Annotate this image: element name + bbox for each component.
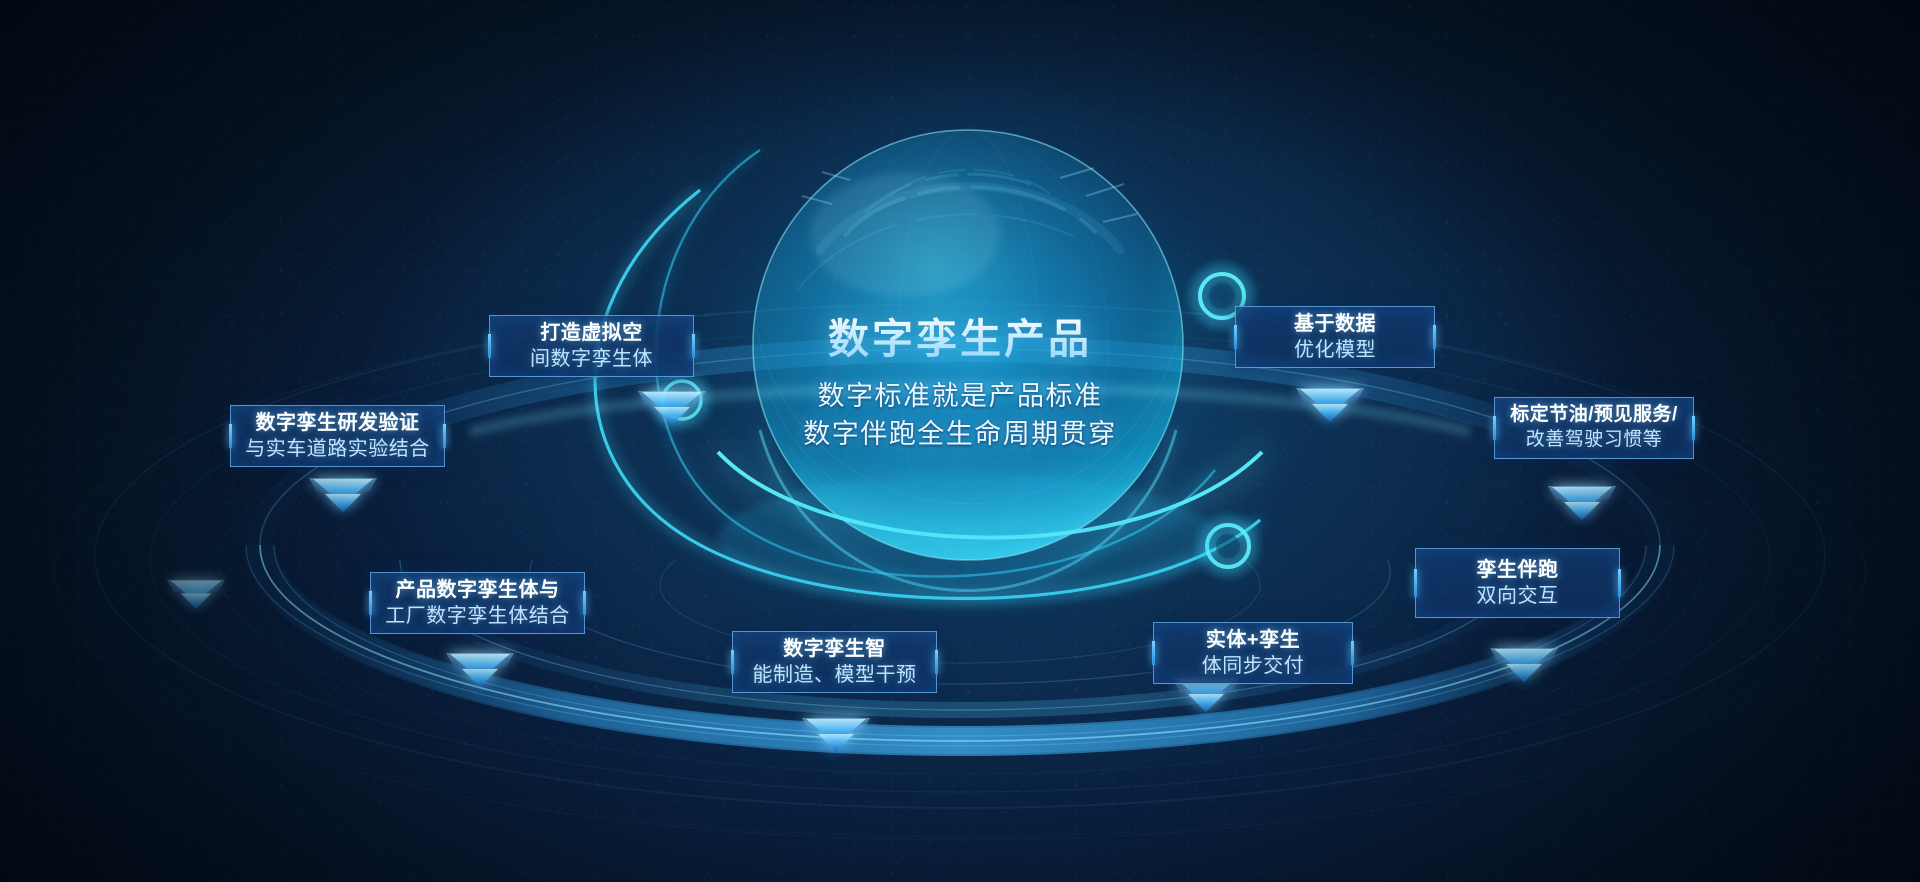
infographic-stage: 数字孪生产品 数字标准就是产品标准 数字伴跑全生命周期贯穿 打造虚拟空 间数字孪… (0, 0, 1920, 882)
orbit-node-icon (652, 370, 712, 430)
label-rnd-validation[interactable]: 数字孪生研发验证 与实车道路实验结合 (230, 405, 445, 467)
label-line-2: 间数字孪生体 (530, 346, 653, 372)
orbit-ring-4 (470, 387, 1470, 432)
label-line-2: 优化模型 (1294, 337, 1376, 363)
label-product-factory-twin[interactable]: 产品数字孪生体与 工厂数字孪生体结合 (370, 572, 585, 634)
accent-bar-right (443, 424, 446, 448)
label-build-virtual-space[interactable]: 打造虚拟空 间数字孪生体 (489, 315, 694, 377)
chevron-down-icon (309, 478, 377, 512)
chevron-down-icon (1296, 388, 1364, 422)
label-line-1: 基于数据 (1294, 311, 1376, 337)
label-twin-companion[interactable]: 孪生伴跑 双向交互 (1415, 548, 1620, 618)
chevron-down-icon (638, 391, 706, 425)
accent-bar-left (731, 650, 734, 674)
chevron-down-icon (802, 718, 870, 752)
label-line-1: 打造虚拟空 (540, 320, 643, 346)
label-line-1: 孪生伴跑 (1477, 557, 1559, 583)
orbit-ring-1 (595, 190, 1260, 598)
label-smart-manufacturing[interactable]: 数字孪生智 能制造、模型干预 (732, 631, 937, 693)
page-title: 数字孪生产品 (0, 305, 1920, 365)
label-data-optimize-model[interactable]: 基于数据 优化模型 (1235, 306, 1435, 368)
label-line-2: 工厂数字孪生体结合 (385, 603, 570, 629)
accent-bar-left (1152, 641, 1155, 665)
orbit-node-icon (1196, 514, 1260, 578)
label-fuel-service-driving[interactable]: 标定节油/预见服务/ 改善驾驶习惯等 (1494, 397, 1694, 459)
label-line-2: 双向交互 (1477, 583, 1559, 609)
globe-halo (678, 55, 1258, 635)
accent-bar-left (1234, 325, 1237, 349)
globe-icon (753, 130, 1183, 591)
globe-ground-glow (718, 474, 1218, 606)
accent-bar-left (229, 424, 232, 448)
label-line-1: 数字孪生智 (783, 636, 886, 662)
label-entity-twin-delivery[interactable]: 实体+孪生 体同步交付 (1153, 622, 1353, 684)
accent-bar-left (488, 334, 491, 358)
orbit-ring-3 (718, 452, 1262, 538)
accent-bar-right (935, 650, 938, 674)
globe-hud-arcs (757, 130, 1179, 560)
chevron-down-icon (1490, 648, 1558, 682)
globe-hud-ticks (802, 168, 1137, 222)
accent-bar-right (1692, 416, 1695, 440)
accent-bar-right (1351, 641, 1354, 665)
accent-bar-left (1414, 569, 1417, 596)
orbit-band-front (246, 344, 1674, 746)
accent-bar-right (692, 334, 695, 358)
accent-bar-left (369, 591, 372, 615)
label-line-1: 数字孪生研发验证 (256, 410, 420, 436)
chevron-down-icon (446, 653, 514, 687)
accent-bar-left (1493, 416, 1496, 440)
chevron-down-icon (1548, 486, 1616, 520)
orbit-ring-2 (656, 150, 1215, 576)
chevron-down-icon (167, 580, 225, 609)
label-line-2: 改善驾驶习惯等 (1526, 428, 1663, 453)
accent-bar-right (583, 591, 586, 615)
label-line-1: 标定节油/预见服务/ (1510, 403, 1678, 428)
label-line-1: 产品数字孪生体与 (396, 577, 560, 603)
label-line-2: 与实车道路实验结合 (245, 436, 430, 462)
accent-bar-right (1618, 569, 1621, 596)
label-line-2: 体同步交付 (1202, 653, 1305, 679)
accent-bar-right (1433, 325, 1436, 349)
label-line-1: 实体+孪生 (1206, 627, 1300, 653)
label-line-2: 能制造、模型干预 (753, 662, 917, 688)
orbit-band-back (260, 349, 1660, 741)
